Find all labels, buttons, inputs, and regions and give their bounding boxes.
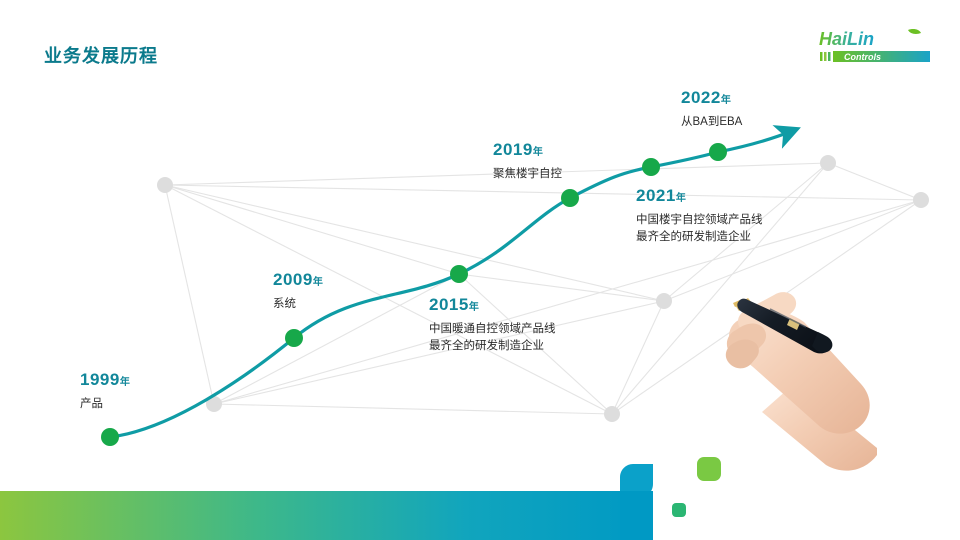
decor-square-green (697, 457, 721, 481)
slide-chrome: 业务发展历程 HaiLin Control (0, 0, 960, 540)
bottom-decoration-bar (0, 450, 960, 540)
slide-canvas: 1999年产品2009年系统2015年中国暖通自控领域产品线最齐全的研发制造企业… (0, 0, 960, 540)
logo-subtext: Controls (844, 52, 881, 62)
hailin-controls-logo: HaiLin Controls (815, 26, 935, 68)
page-title: 业务发展历程 (44, 42, 158, 68)
logo-wordmark: HaiLin (819, 29, 874, 49)
decor-square-teal (672, 503, 686, 517)
